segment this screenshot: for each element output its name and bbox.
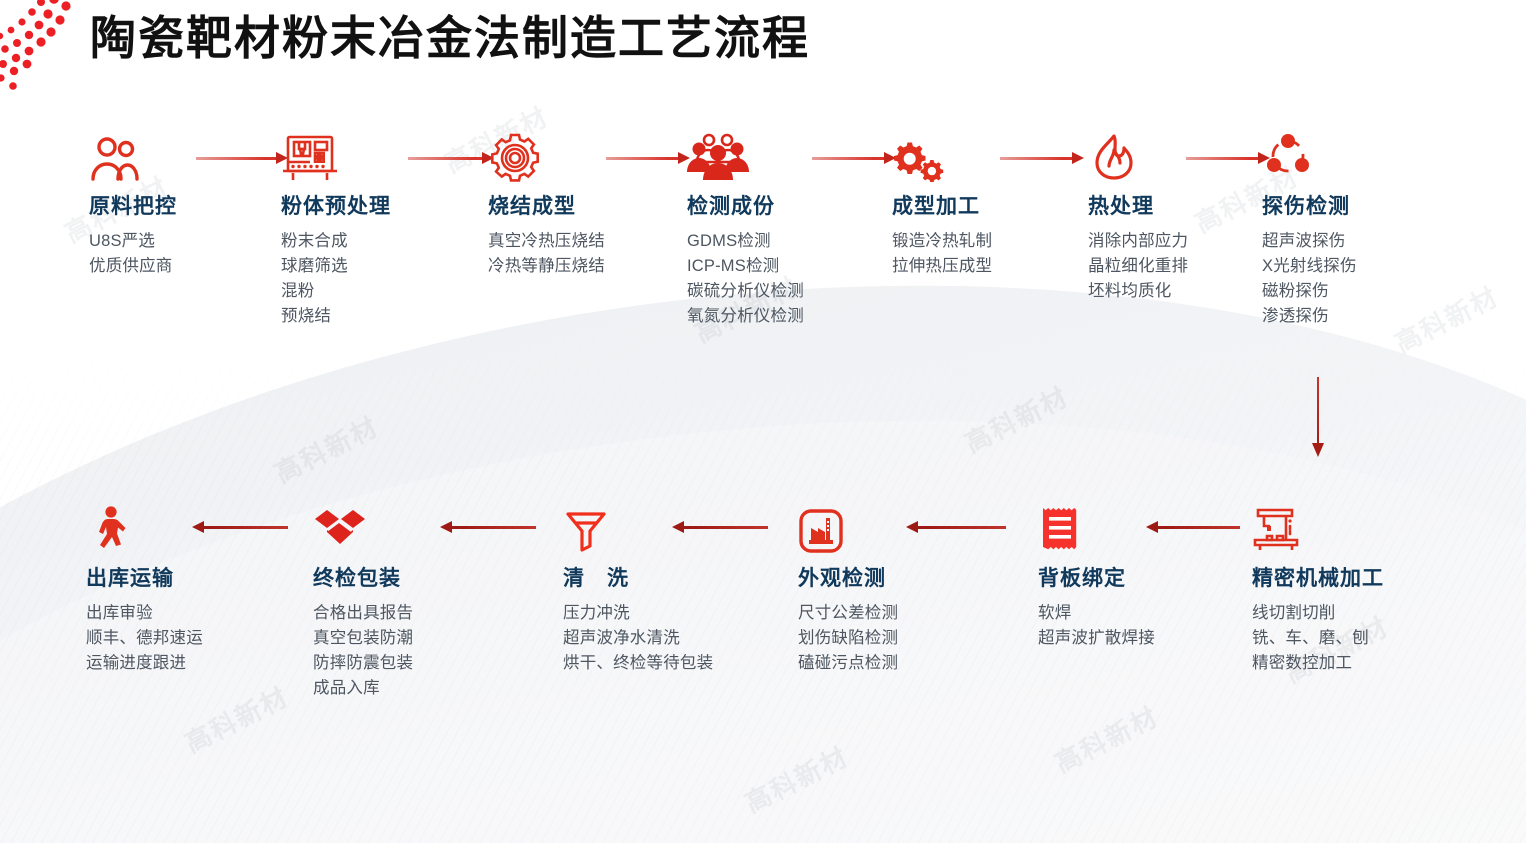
step-items: 出库审验 顺丰、德邦速运 运输进度跟进 (86, 601, 261, 676)
step-card-cleaning[interactable]: 清 洗 压力冲洗 超声波净水清洗 烘干、终检等待包装 (563, 500, 723, 676)
step-item: ICP-MS检测 (687, 254, 882, 279)
step-items: U8S严选 优质供应商 (89, 229, 264, 279)
step-item: 预烧结 (281, 304, 466, 329)
step-item: GDMS检测 (687, 229, 882, 254)
step-card-flaw-detection[interactable]: 探伤检测 超声波探伤 X光射线探伤 磁粉探伤 渗透探伤 (1262, 128, 1437, 329)
step-item: 划伤缺陷检测 (798, 626, 973, 651)
process-flow-diagram: 原料把控 U8S严选 优质供应商 (0, 0, 1526, 843)
step-title: 检测成份 (687, 194, 882, 220)
step-item: U8S严选 (89, 229, 264, 254)
step-item: 超声波探伤 (1262, 229, 1437, 254)
flow-arrow-right (196, 152, 288, 164)
flow-arrow-right (606, 152, 690, 164)
step-item: 顺丰、德邦速运 (86, 626, 261, 651)
step-item: 软焊 (1038, 601, 1203, 626)
step-item: 超声波净水清洗 (563, 626, 723, 651)
funnel-icon (563, 500, 723, 554)
step-card-backplate-bonding[interactable]: 背板绑定 软焊 超声波扩散焊接 (1038, 500, 1203, 651)
flow-arrow-down (1312, 377, 1324, 457)
step-card-sintering-forming[interactable]: 烧结成型 真空冷热压烧结 冷热等静压烧结 (488, 128, 678, 279)
step-item: 氧氮分析仪检测 (687, 304, 882, 329)
step-item: 运输进度跟进 (86, 651, 261, 676)
step-item: 渗透探伤 (1262, 304, 1437, 329)
step-title: 背板绑定 (1038, 566, 1203, 592)
step-item: 磁粉探伤 (1262, 279, 1437, 304)
step-items: 线切割切削 铣、车、磨、刨 精密数控加工 (1252, 601, 1437, 676)
step-title: 烧结成型 (488, 194, 678, 220)
step-item: 线切割切削 (1252, 601, 1437, 626)
step-title: 终检包装 (313, 566, 488, 592)
step-title: 粉体预处理 (281, 194, 466, 220)
walking-person-icon (86, 500, 261, 554)
step-item: 成品入库 (313, 676, 488, 701)
triple-node-icon (1262, 128, 1437, 182)
step-item: 消除内部应力 (1088, 229, 1258, 254)
step-item: 超声波扩散焊接 (1038, 626, 1203, 651)
step-items: 压力冲洗 超声波净水清洗 烘干、终检等待包装 (563, 601, 723, 676)
step-title: 原料把控 (89, 194, 264, 220)
factory-badge-icon (798, 500, 973, 554)
step-items: 粉末合成 球磨筛选 混粉 预烧结 (281, 229, 466, 329)
flow-arrow-right (1000, 152, 1084, 164)
step-items: 尺寸公差检测 划伤缺陷检测 磕碰污点检测 (798, 601, 973, 676)
step-card-raw-material-control[interactable]: 原料把控 U8S严选 优质供应商 (89, 128, 264, 279)
step-item: 烘干、终检等待包装 (563, 651, 715, 676)
step-items: 消除内部应力 晶粒细化重排 坯料均质化 (1088, 229, 1258, 304)
step-card-outbound-transport[interactable]: 出库运输 出库审验 顺丰、德邦速运 运输进度跟进 (86, 500, 261, 676)
page-title: 陶瓷靶材粉末冶金法制造工艺流程 (90, 6, 810, 70)
step-card-precision-machining[interactable]: 精密机械加工 线切割切削 铣、车、磨、刨 精密数控加工 (1252, 500, 1437, 676)
step-items: 软焊 超声波扩散焊接 (1038, 601, 1203, 651)
step-title: 精密机械加工 (1252, 566, 1437, 592)
step-items: 超声波探伤 X光射线探伤 磁粉探伤 渗透探伤 (1262, 229, 1437, 329)
step-item: 粉末合成 (281, 229, 466, 254)
step-item: 球磨筛选 (281, 254, 466, 279)
cnc-machine-icon (1252, 500, 1437, 554)
step-item: 真空包装防潮 (313, 626, 488, 651)
step-item: 碳硫分析仪检测 (687, 279, 882, 304)
step-title: 清 洗 (563, 566, 723, 592)
step-item: 合格出具报告 (313, 601, 488, 626)
step-item: 坯料均质化 (1088, 279, 1258, 304)
step-item: 尺寸公差检测 (798, 601, 973, 626)
step-item: 出库审验 (86, 601, 261, 626)
step-title: 成型加工 (892, 194, 1072, 220)
step-item: 优质供应商 (89, 254, 264, 279)
flow-arrow-right (1186, 152, 1270, 164)
step-title: 外观检测 (798, 566, 973, 592)
step-item: X光射线探伤 (1262, 254, 1437, 279)
step-item: 拉伸热压成型 (892, 254, 1072, 279)
step-item: 锻造冷热轧制 (892, 229, 1072, 254)
step-items: 合格出具报告 真空包装防潮 防摔防震包装 成品入库 (313, 601, 488, 701)
step-item: 混粉 (281, 279, 466, 304)
step-card-forming-processing[interactable]: 成型加工 锻造冷热轧制 拉伸热压成型 (892, 128, 1072, 279)
step-title: 热处理 (1088, 194, 1258, 220)
step-item: 铣、车、磨、刨 (1252, 626, 1437, 651)
step-title: 探伤检测 (1262, 194, 1437, 220)
step-card-final-inspection-packaging[interactable]: 终检包装 合格出具报告 真空包装防潮 防摔防震包装 成品入库 (313, 500, 488, 701)
step-item: 晶粒细化重排 (1088, 254, 1258, 279)
flow-arrow-right (812, 152, 896, 164)
step-item: 压力冲洗 (563, 601, 723, 626)
ticket-icon (1038, 500, 1203, 554)
step-items: GDMS检测 ICP-MS检测 碳硫分析仪检测 氧氮分析仪检测 (687, 229, 882, 329)
step-item: 真空冷热压烧结 (488, 229, 678, 254)
step-items: 锻造冷热轧制 拉伸热压成型 (892, 229, 1072, 279)
step-item: 精密数控加工 (1252, 651, 1437, 676)
step-item: 磕碰污点检测 (798, 651, 973, 676)
step-item: 防摔防震包装 (313, 651, 488, 676)
flow-arrow-right (408, 152, 494, 164)
step-items: 真空冷热压烧结 冷热等静压烧结 (488, 229, 678, 279)
step-item: 冷热等静压烧结 (488, 254, 678, 279)
open-box-icon (313, 500, 488, 554)
step-title: 出库运输 (86, 566, 261, 592)
step-card-appearance-inspection[interactable]: 外观检测 尺寸公差检测 划伤缺陷检测 磕碰污点检测 (798, 500, 973, 676)
